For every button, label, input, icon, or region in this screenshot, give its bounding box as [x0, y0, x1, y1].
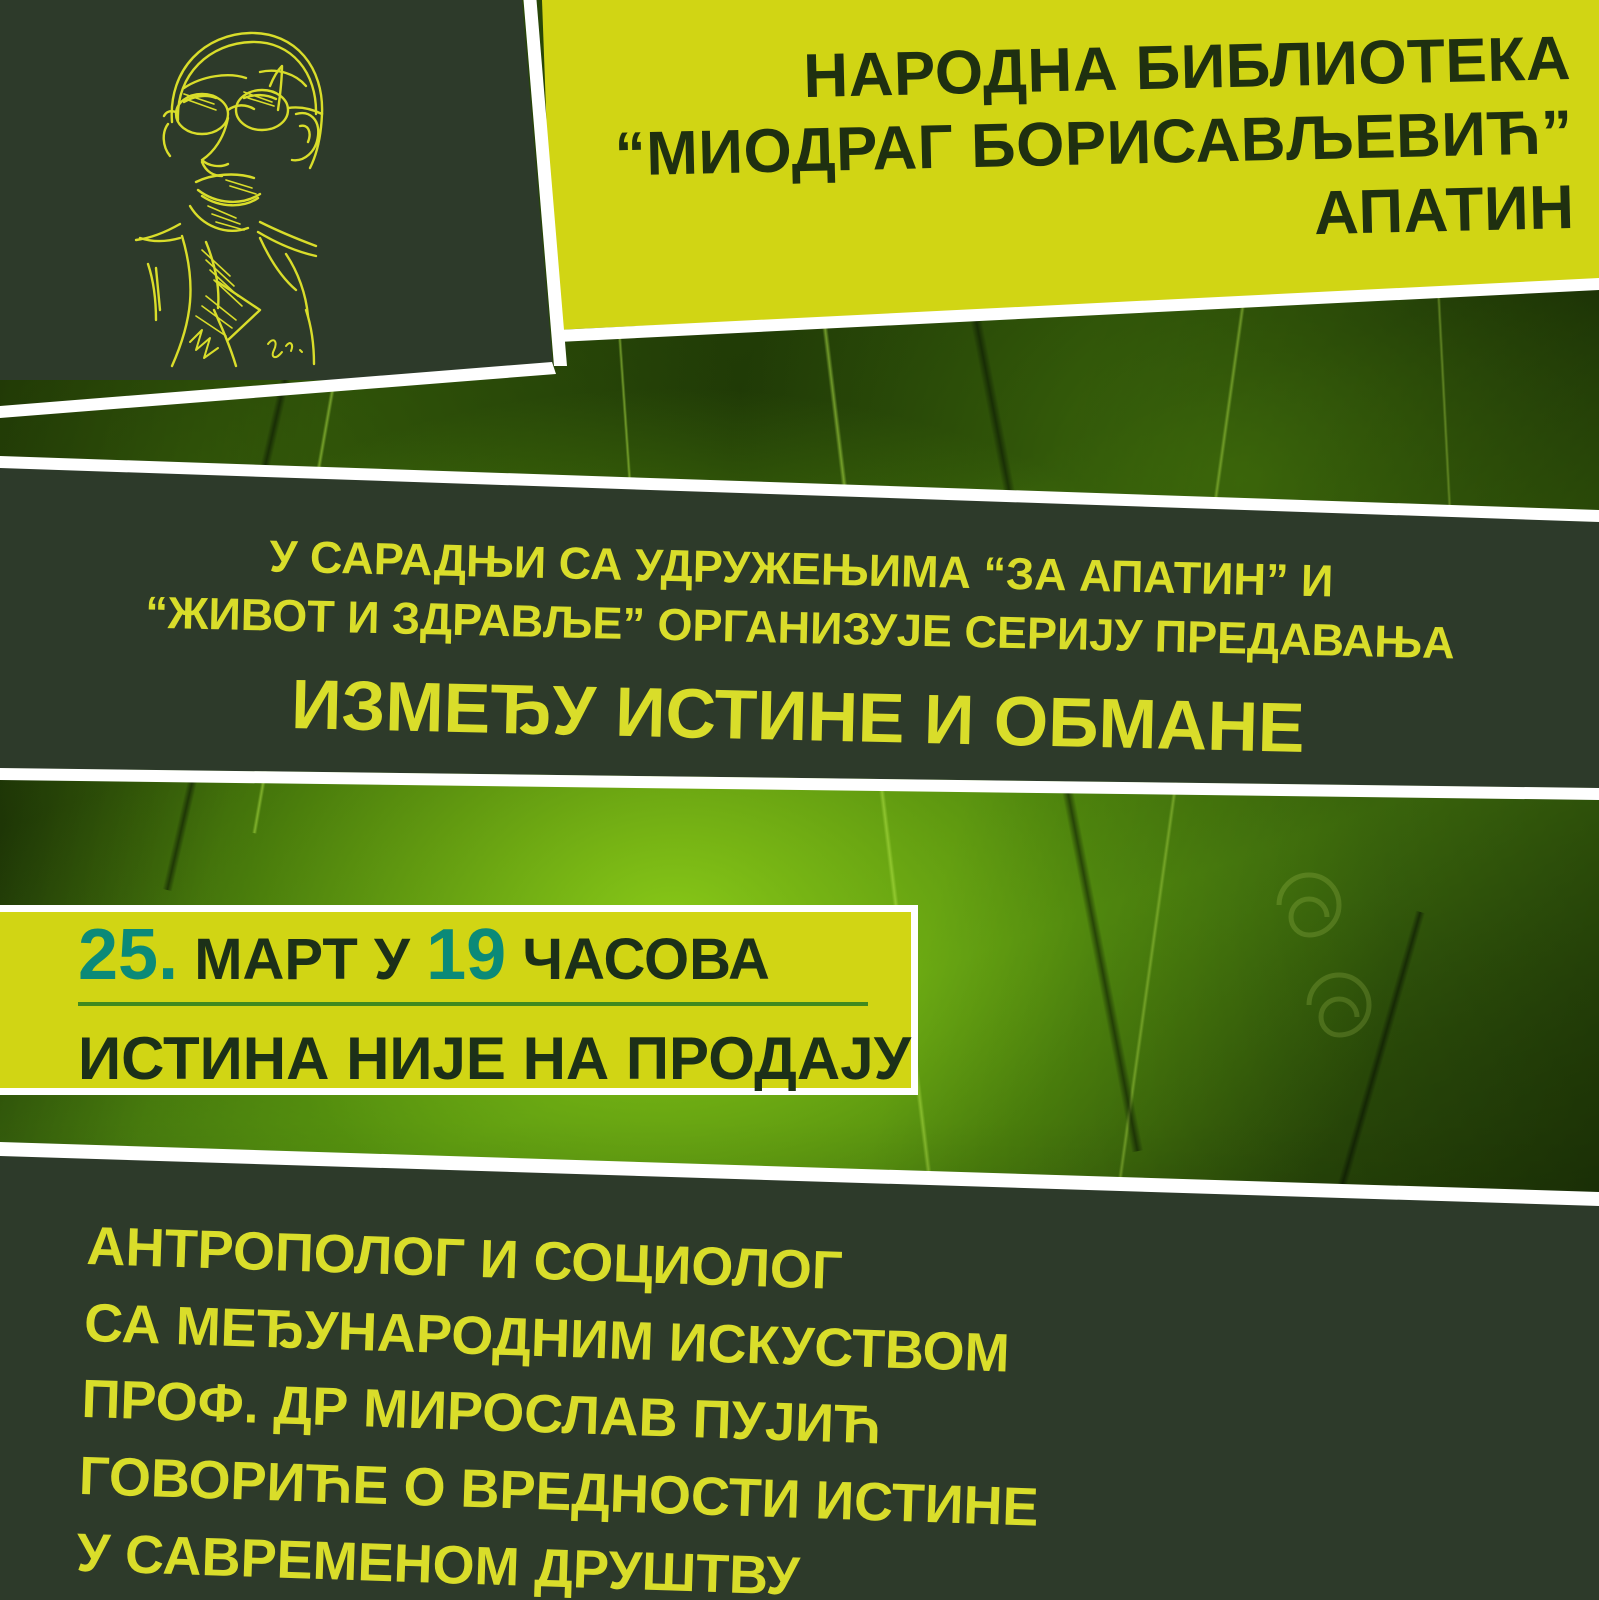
lecture-title: ИСТИНА НИЈЕ НА ПРОДАЈУ — [78, 1026, 868, 1092]
intro-text: У САРАДЊИ СА УДРУЖЕЊИМА “ЗА АПАТИН” И “Ж… — [0, 521, 1599, 779]
date-card-content: 25. МАРТ У 19 ЧАСОВА ИСТИНА НИЈЕ НА ПРОД… — [78, 918, 868, 1092]
library-title: НАРОДНА БИБЛИОТЕКА “МИОДРАГ БОРИСАВЉЕВИЋ… — [560, 22, 1575, 269]
portrait-illustration — [110, 10, 400, 370]
event-month-prefix: МАРТ У — [194, 927, 410, 992]
event-hour-suffix: ЧАСОВА — [522, 927, 770, 992]
event-hour: 19 — [426, 915, 506, 995]
date-time-line: 25. МАРТ У 19 ЧАСОВА — [78, 918, 868, 1006]
event-poster: НАРОДНА БИБЛИОТЕКА “МИОДРАГ БОРИСАВЉЕВИЋ… — [0, 0, 1599, 1600]
event-day: 25. — [78, 915, 178, 995]
speaker-info: АНТРОПОЛОГ И СОЦИОЛОГ СА МЕЂУНАРОДНИМ ИС… — [75, 1208, 1387, 1600]
